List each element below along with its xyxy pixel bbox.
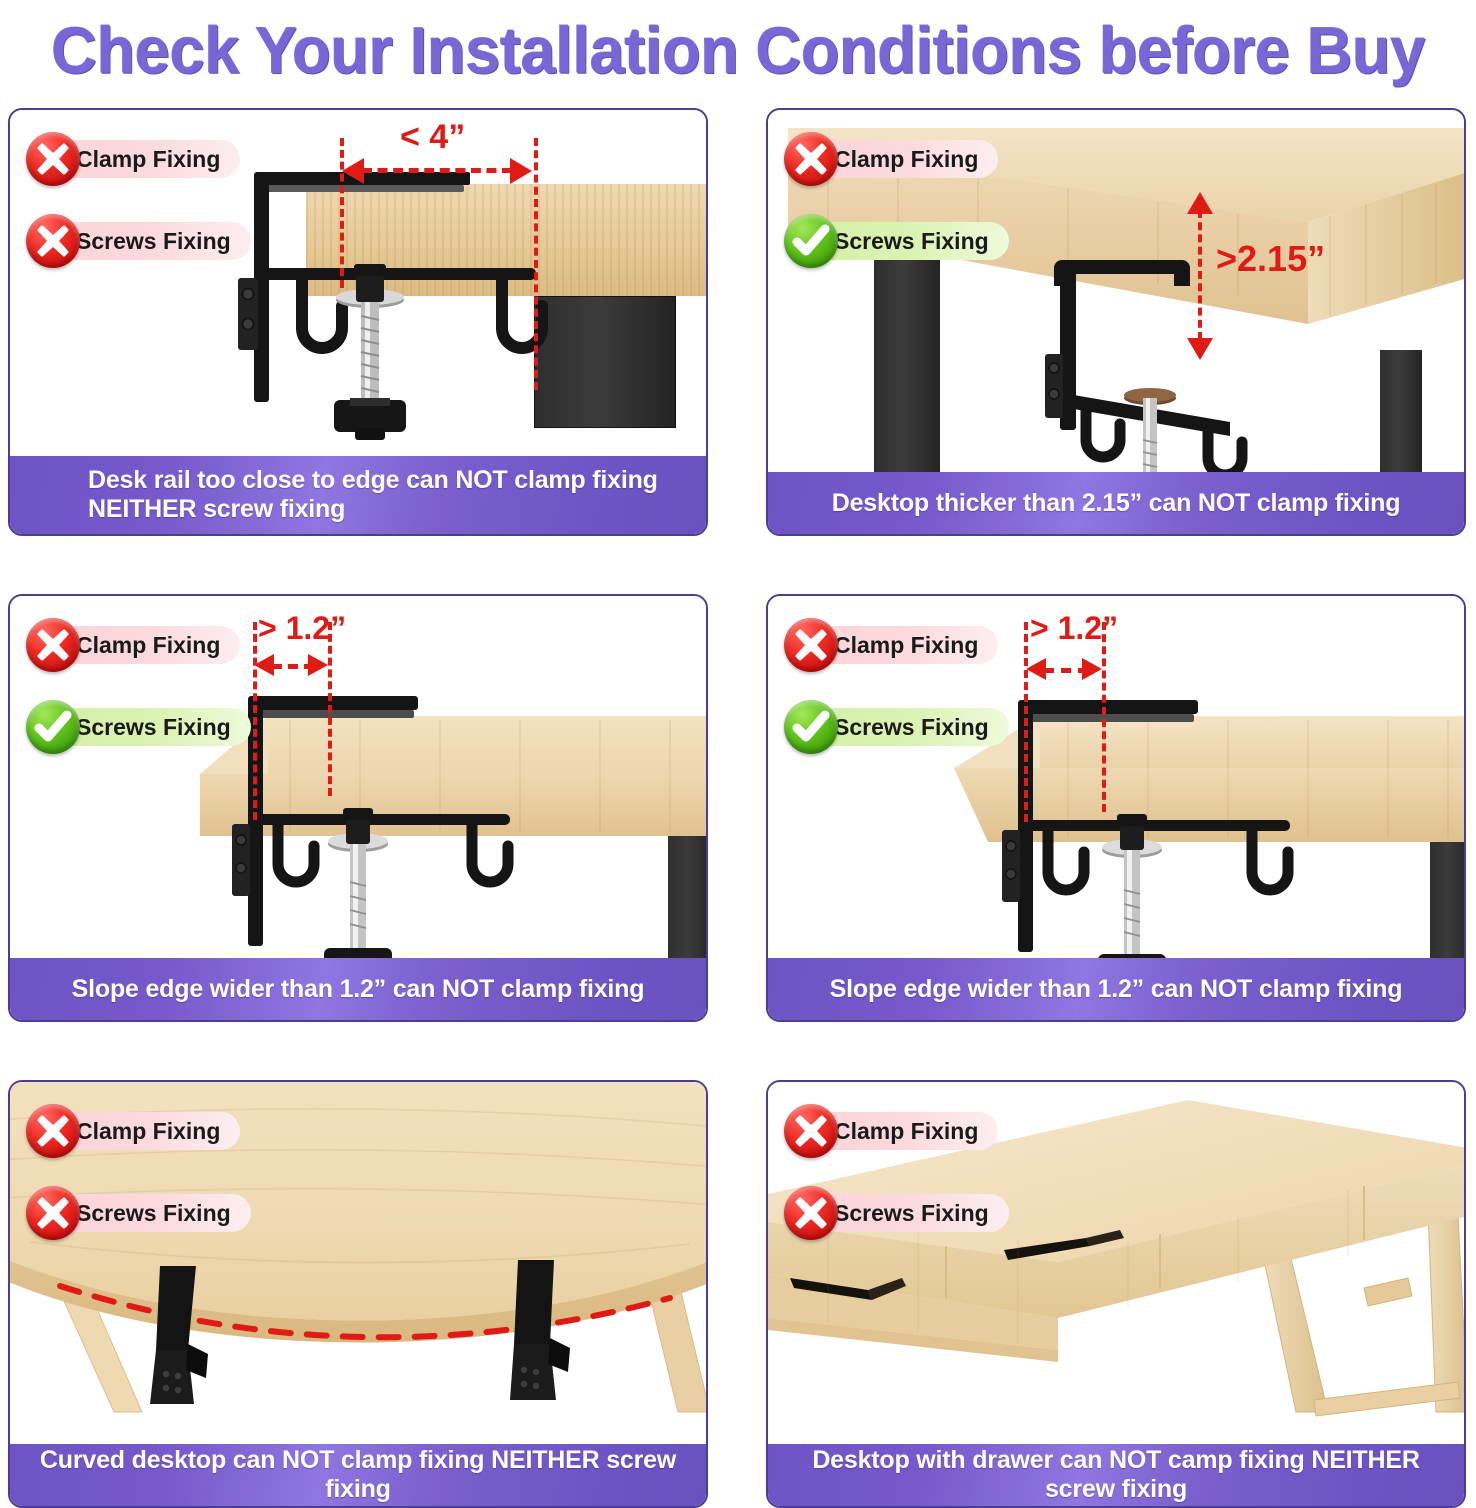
illustration-slope-chamfer: > 1.2” Clamp Fixing Screws Fixing (768, 596, 1464, 958)
slope-guide-left (1024, 622, 1028, 822)
slope-guide-right (1102, 622, 1106, 812)
badge-clamp-fixing: Clamp Fixing (26, 132, 251, 186)
cross-icon (26, 1104, 80, 1158)
measure-arrow-right (510, 158, 532, 184)
panel-caption: Desk rail too close to edge can NOT clam… (10, 456, 706, 534)
thickness-arrow-down (1187, 338, 1213, 360)
illustration-drawer-desk: Clamp Fixing Screws Fixing (768, 1082, 1464, 1444)
panel-desktop-with-drawer: Clamp Fixing Screws Fixing Desktop with … (766, 1080, 1466, 1508)
measure-span-line (362, 168, 512, 173)
badge-group: Clamp Fixing Screws Fixing (784, 1104, 1009, 1240)
panel-slope-edge-bevel: > 1.2” Clamp Fixing Screws Fixing Slope … (8, 594, 708, 1022)
check-icon (784, 214, 838, 268)
measure-label: < 4” (400, 118, 465, 157)
measure-arrow-left (342, 158, 364, 184)
conditions-grid: < 4” Clamp Fixing Screws Fixing Desk rai… (8, 108, 1468, 1508)
panel-curved-desktop: Clamp Fixing Screws Fixing Curved deskto… (8, 1080, 708, 1508)
panel-caption: Desktop with drawer can NOT camp fixing … (768, 1444, 1464, 1506)
badge-screws-fixing: Screws Fixing (784, 214, 1009, 268)
measure-label: > 1.2” (258, 610, 346, 647)
badge-group: Clamp Fixing Screws Fixing (26, 1104, 251, 1240)
panel-caption: Slope edge wider than 1.2” can NOT clamp… (10, 958, 706, 1020)
thickness-arrow-up (1187, 192, 1213, 214)
badge-clamp-fixing: Clamp Fixing (784, 1104, 1009, 1158)
slope-arrow-left (254, 654, 274, 676)
cross-icon (26, 214, 80, 268)
check-icon (26, 700, 80, 754)
badge-clamp-fixing: Clamp Fixing (26, 618, 251, 672)
cross-icon (26, 618, 80, 672)
badge-clamp-fixing: Clamp Fixing (26, 1104, 251, 1158)
badge-group: Clamp Fixing Screws Fixing (26, 618, 251, 754)
cross-icon (784, 132, 838, 186)
thickness-guide (1198, 210, 1202, 340)
cross-icon (26, 1186, 80, 1240)
slope-guide-right (328, 622, 332, 796)
cross-icon (784, 1186, 838, 1240)
panel-caption: Curved desktop can NOT clamp fixing NEIT… (10, 1444, 706, 1506)
page-title: Check Your Installation Conditions befor… (30, 0, 1447, 100)
badge-group: Clamp Fixing Screws Fixing (26, 132, 251, 268)
measure-label: >2.15” (1216, 238, 1325, 280)
illustration-curved-desktop: Clamp Fixing Screws Fixing (10, 1082, 706, 1444)
panel-caption: Slope edge wider than 1.2” can NOT clamp… (768, 958, 1464, 1020)
badge-group: Clamp Fixing Screws Fixing (784, 618, 1009, 754)
badge-clamp-fixing: Clamp Fixing (784, 618, 1009, 672)
panel-slope-edge-chamfer: > 1.2” Clamp Fixing Screws Fixing Slope … (766, 594, 1466, 1022)
badge-screws-fixing: Screws Fixing (26, 1186, 251, 1240)
slope-arrow-right (1082, 658, 1102, 680)
cross-icon (784, 618, 838, 672)
panel-caption: Desktop thicker than 2.15” can NOT clamp… (768, 472, 1464, 534)
panel-desktop-too-thick: >2.15” Clamp Fixing Screws Fixing Deskto… (766, 108, 1466, 536)
panel-desk-rail-too-close: < 4” Clamp Fixing Screws Fixing Desk rai… (8, 108, 708, 536)
slope-guide-left (253, 622, 257, 820)
measure-label: > 1.2” (1030, 610, 1118, 647)
badge-group: Clamp Fixing Screws Fixing (784, 132, 1009, 268)
check-icon (784, 700, 838, 754)
cross-icon (784, 1104, 838, 1158)
badge-screws-fixing: Screws Fixing (784, 1186, 1009, 1240)
measure-guide-right (534, 138, 538, 390)
slope-arrow-left (1026, 658, 1046, 680)
badge-screws-fixing: Screws Fixing (26, 214, 251, 268)
badge-screws-fixing: Screws Fixing (784, 700, 1009, 754)
cross-icon (26, 132, 80, 186)
illustration-slope-bevel: > 1.2” Clamp Fixing Screws Fixing (10, 596, 706, 958)
slope-arrow-right (308, 654, 328, 676)
badge-clamp-fixing: Clamp Fixing (784, 132, 1009, 186)
badge-screws-fixing: Screws Fixing (26, 700, 251, 754)
illustration-desk-rail: < 4” Clamp Fixing Screws Fixing (10, 110, 706, 456)
illustration-thick-desktop: >2.15” Clamp Fixing Screws Fixing (768, 110, 1464, 472)
